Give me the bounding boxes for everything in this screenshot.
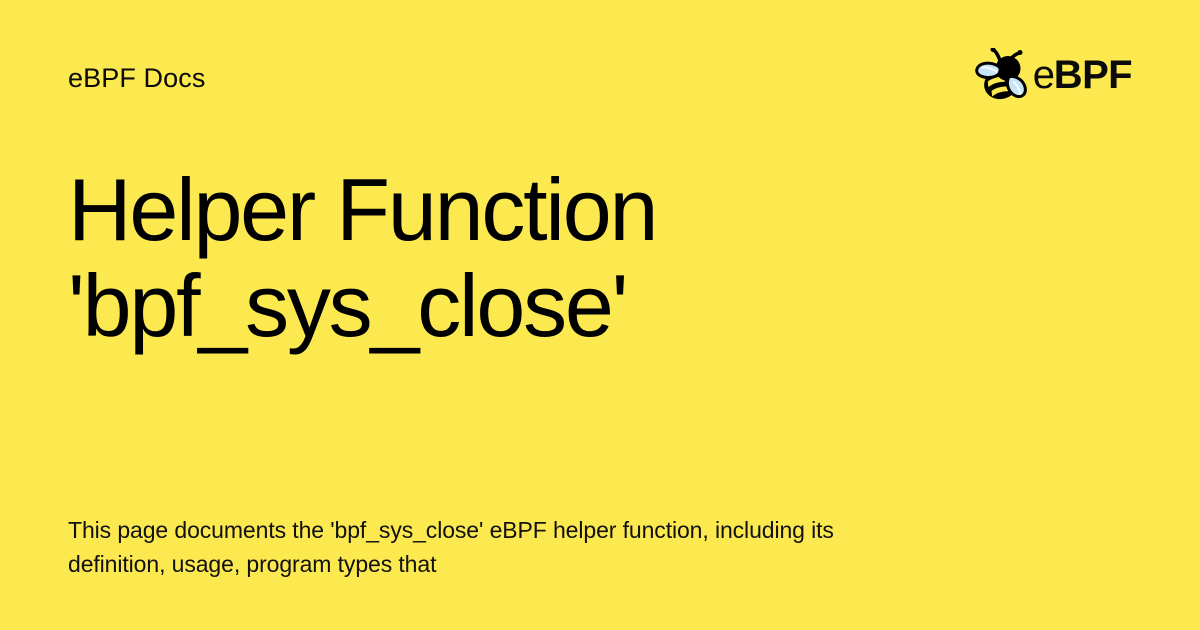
brand-wordmark-bpf: BPF xyxy=(1054,55,1132,95)
description-block: This page documents the 'bpf_sys_close' … xyxy=(68,513,888,581)
brand-wordmark: eBPF xyxy=(1033,55,1132,95)
bee-icon xyxy=(975,48,1031,102)
page-description: This page documents the 'bpf_sys_close' … xyxy=(68,513,888,581)
brand-logo: eBPF xyxy=(975,48,1132,102)
site-name: eBPF Docs xyxy=(68,62,205,94)
brand-wordmark-e: e xyxy=(1033,55,1054,95)
og-card: eBPF Docs xyxy=(0,0,1200,630)
title-block: Helper Function 'bpf_sys_close' xyxy=(68,162,1068,354)
page-title: Helper Function 'bpf_sys_close' xyxy=(68,162,1068,354)
card-header: eBPF Docs xyxy=(0,0,1200,150)
